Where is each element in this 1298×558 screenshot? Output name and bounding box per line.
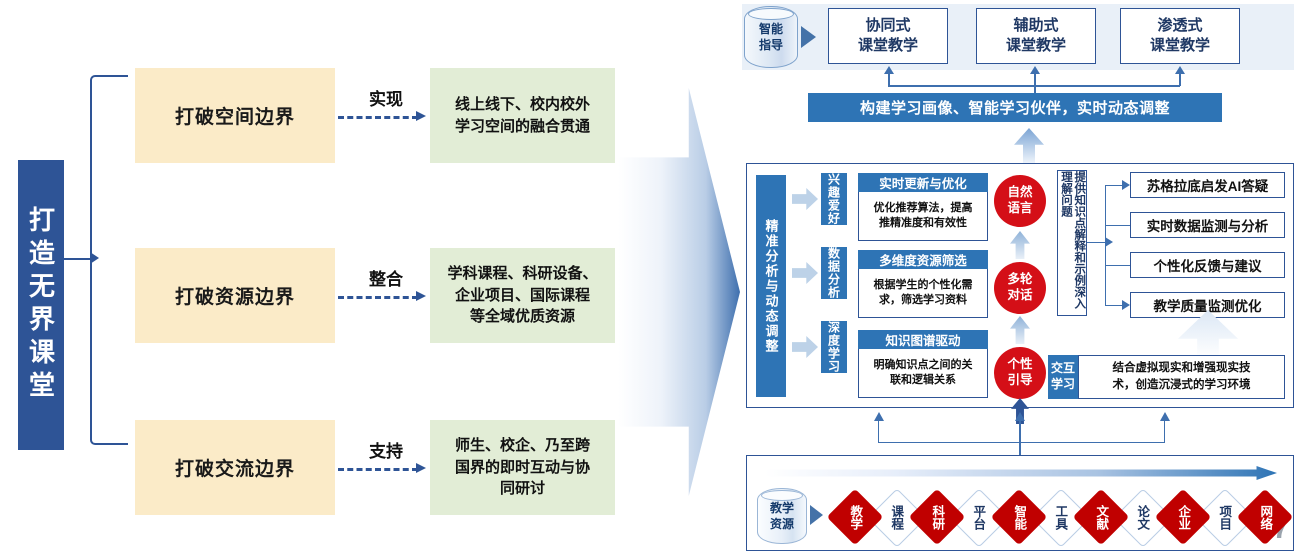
- resource-diamond-label: 项目: [1218, 505, 1231, 530]
- dashed-line-icon: [338, 296, 418, 299]
- banner-connector-left-riser: [888, 73, 890, 86]
- resource-diamond-label: 论文: [1136, 505, 1149, 530]
- relation-connector-1: 实现: [338, 96, 430, 136]
- dashed-line-icon: [338, 468, 418, 471]
- teaching-mode-box-1[interactable]: 协同式 课堂教学: [828, 8, 948, 64]
- target-text-2: 学科课程、科研设备、 企业项目、国际课程 等全域优质资源: [447, 263, 597, 328]
- resource-diamond-label: 智能: [1013, 505, 1026, 530]
- left-bracket-arrow-icon: [90, 252, 99, 264]
- resource-diamond-label: 企业: [1177, 505, 1190, 530]
- relation-connector-3: 支持: [338, 448, 430, 488]
- dashed-line-icon: [338, 116, 418, 119]
- tag-box-2[interactable]: 数据分析: [821, 247, 847, 299]
- resource-diamond-文献[interactable]: 文献: [1074, 490, 1128, 544]
- resource-diamond-label: 文献: [1095, 505, 1108, 530]
- capability-circle-1[interactable]: 自然 语言: [994, 175, 1046, 227]
- feature-card-2[interactable]: 多维度资源筛选 根据学生的个性化需 求，筛选学习资料: [858, 250, 988, 318]
- feature-card-title-3: 知识图谱驱动: [858, 330, 988, 349]
- bottom-cylinder-top-ellipse-icon: [761, 490, 803, 501]
- bottom-connector-horizontal: [878, 442, 1165, 443]
- left-bracket-stem: [64, 258, 92, 260]
- bottom-arrow-icon-left: [874, 412, 884, 421]
- capability-label-1: 自然 语言: [1007, 185, 1032, 216]
- branch-arrow-icon-4: [1122, 300, 1130, 310]
- feature-card-title-2: 多维度资源筛选: [858, 250, 988, 269]
- resource-diamond-智能[interactable]: 智能: [992, 490, 1046, 544]
- arrow-head-icon: [416, 463, 426, 473]
- teaching-mode-box-2[interactable]: 辅助式 课堂教学: [976, 8, 1096, 64]
- capability-label-2: 多轮 对话: [1007, 272, 1032, 303]
- left-vertical-title: 打造无界课堂: [18, 160, 64, 450]
- capability-circle-3[interactable]: 个性 引导: [994, 347, 1046, 399]
- capability-circle-2[interactable]: 多轮 对话: [994, 262, 1046, 314]
- resource-diamond-label: 科研: [931, 505, 944, 530]
- resource-diamond-label: 平台: [972, 505, 985, 530]
- banner-arrow-left-icon: [884, 66, 894, 74]
- target-box-1[interactable]: 线上线下、校内校外 学习空间的融合贯通: [430, 68, 615, 163]
- precise-analysis-vertical-label: 精准分析与动态调整: [756, 175, 786, 397]
- banner-connector-right-riser: [1179, 73, 1181, 86]
- target-box-2[interactable]: 学科课程、科研设备、 企业项目、国际课程 等全域优质资源: [430, 248, 615, 343]
- bottom-connector-left-riser: [878, 419, 879, 443]
- knowledge-explanation-label: 提供知识点解释和示例深入理解问题: [1057, 170, 1087, 316]
- arrow-head-icon: [416, 291, 426, 301]
- bottom-cylinder-chevron-icon: [810, 505, 823, 525]
- resource-diamond-label: 工具: [1054, 505, 1067, 530]
- feature-card-body-2: 根据学生的个性化需 求，筛选学习资料: [858, 269, 988, 318]
- target-text-1: 线上线下、校内校外 学习空间的融合贯通: [455, 94, 590, 138]
- source-box-1[interactable]: 打破空间边界: [135, 68, 335, 163]
- feature-card-1[interactable]: 实时更新与优化 优化推荐算法，提高 推精准度和有效性: [858, 173, 988, 241]
- cylinder-chevron-icon: [801, 26, 816, 48]
- resource-diamond-教学[interactable]: 教学: [828, 490, 882, 544]
- resource-diamond-label: 教学: [849, 505, 862, 530]
- output-box-2[interactable]: 实时数据监测与分析: [1130, 212, 1285, 238]
- teaching-mode-label-1: 协同式 课堂教学: [858, 16, 918, 57]
- interactive-learning-tag[interactable]: 交互 学习: [1048, 355, 1078, 399]
- feature-card-3[interactable]: 知识图谱驱动 明确知识点之间的关 联和逻辑关系: [858, 330, 988, 398]
- resource-diamond-企业[interactable]: 企业: [1156, 490, 1210, 544]
- target-text-3: 师生、校企、乃至跨 国界的即时互动与协 同研讨: [455, 435, 590, 500]
- branch-stub-2: [1105, 225, 1130, 226]
- banner-arrow-mid-icon: [1030, 66, 1040, 74]
- capability-label-3: 个性 引导: [1007, 357, 1032, 388]
- target-box-3[interactable]: 师生、校企、乃至跨 国界的即时互动与协 同研讨: [430, 420, 615, 515]
- feature-card-title-1: 实时更新与优化: [858, 173, 988, 192]
- bottom-arrow-icon-right: [1160, 412, 1170, 421]
- branch-vertical-spine: [1105, 185, 1106, 305]
- teaching-mode-label-2: 辅助式 课堂教学: [1006, 16, 1066, 57]
- bottom-arrow-icon-center: [1015, 412, 1025, 421]
- relation-label-1: 实现: [354, 85, 418, 110]
- intelligent-guidance-label: 智能 指导: [759, 21, 783, 53]
- left-flow-pane: 打造无界课堂 打破空间边界 实现 线上线下、校内校外 学习空间的融合贯通 打破资…: [0, 0, 660, 558]
- branch-arrow-icon-1: [1122, 180, 1130, 190]
- feature-card-body-3: 明确知识点之间的关 联和逻辑关系: [858, 349, 988, 398]
- arrow-head-icon: [416, 111, 426, 121]
- teaching-mode-label-3: 渗透式 课堂教学: [1150, 16, 1210, 57]
- output-box-3[interactable]: 个性化反馈与建议: [1130, 252, 1285, 278]
- bottom-connector-right-riser: [1164, 419, 1165, 443]
- cylinder-top-ellipse-icon: [748, 8, 794, 20]
- banner-arrow-right-icon: [1175, 66, 1185, 74]
- branch-stub-3: [1105, 265, 1130, 266]
- mid-to-banner-arrow-icon: [1014, 128, 1044, 163]
- feature-card-body-1: 优化推荐算法，提高 推精准度和有效性: [858, 192, 988, 241]
- relation-connector-2: 整合: [338, 276, 430, 316]
- interactive-learning-body: 结合虚拟现实和增强现实技 术，创造沉浸式的学习环境: [1078, 355, 1285, 399]
- tag-box-3[interactable]: 深度学习: [821, 321, 847, 373]
- branch-trunk-stub: [1087, 242, 1105, 243]
- tag-box-1[interactable]: 兴趣爱好: [821, 173, 847, 225]
- interactive-learning-label: 交互 学习: [1051, 361, 1075, 392]
- teaching-resource-label: 教学 资源: [770, 500, 794, 532]
- dynamic-adjustment-banner: 构建学习画像、智能学习伙伴，实时动态调整: [808, 93, 1222, 122]
- resource-diamond-科研[interactable]: 科研: [910, 490, 964, 544]
- output-box-1[interactable]: 苏格拉底启发AI答疑: [1130, 172, 1285, 198]
- source-box-2[interactable]: 打破资源边界: [135, 248, 335, 343]
- resource-diamond-网络[interactable]: 网络: [1238, 490, 1292, 544]
- relation-label-3: 支持: [354, 437, 418, 462]
- relation-label-2: 整合: [354, 265, 418, 290]
- resource-diamond-label: 课程: [890, 505, 903, 530]
- resource-diamond-label: 网络: [1259, 505, 1272, 530]
- source-box-3[interactable]: 打破交流边界: [135, 420, 335, 515]
- teaching-mode-box-3[interactable]: 渗透式 课堂教学: [1120, 8, 1240, 64]
- banner-connector-mid-riser: [1034, 73, 1036, 94]
